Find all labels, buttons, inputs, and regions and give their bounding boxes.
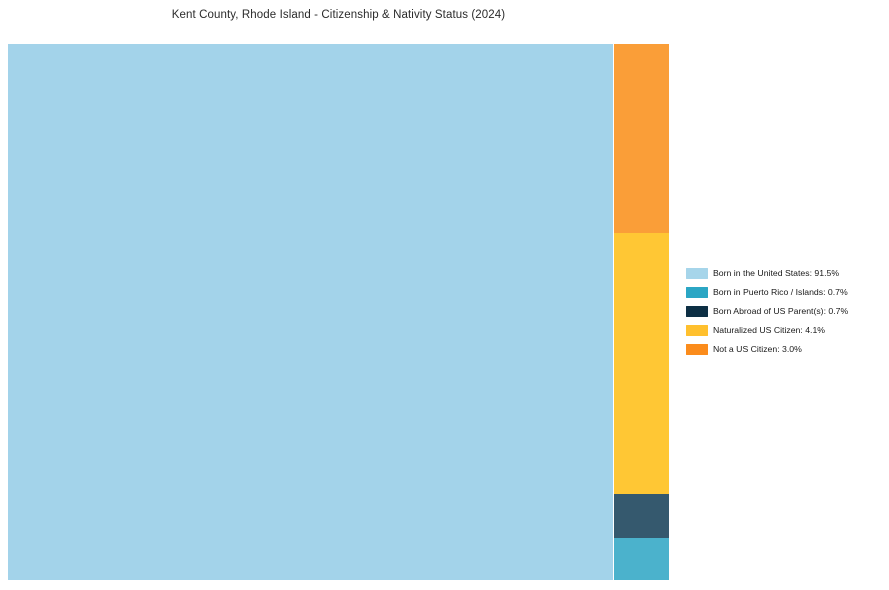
chart-title: Kent County, Rhode Island - Citizenship … — [0, 9, 677, 21]
legend-item-label: Born in the United States: 91.5% — [713, 268, 839, 279]
legend-item[interactable]: Born in the United States: 91.5% — [686, 264, 886, 283]
treemap-tile[interactable] — [614, 494, 669, 538]
legend-swatch-icon — [686, 325, 708, 336]
legend-item[interactable]: Born Abroad of US Parent(s): 0.7% — [686, 302, 886, 321]
legend-swatch-icon — [686, 268, 708, 279]
legend-item[interactable]: Born in Puerto Rico / Islands: 0.7% — [686, 283, 886, 302]
legend-swatch-icon — [686, 306, 708, 317]
treemap-plot-area — [8, 44, 669, 580]
chart-legend: Born in the United States: 91.5%Born in … — [686, 264, 886, 359]
treemap-tile[interactable] — [614, 44, 669, 233]
treemap-tile[interactable] — [614, 538, 669, 580]
legend-swatch-icon — [686, 344, 708, 355]
legend-item-label: Not a US Citizen: 3.0% — [713, 344, 802, 355]
legend-item-label: Born Abroad of US Parent(s): 0.7% — [713, 306, 848, 317]
legend-swatch-icon — [686, 287, 708, 298]
treemap-tile[interactable] — [8, 44, 613, 580]
legend-item[interactable]: Not a US Citizen: 3.0% — [686, 340, 886, 359]
legend-item-label: Born in Puerto Rico / Islands: 0.7% — [713, 287, 848, 298]
legend-item[interactable]: Naturalized US Citizen: 4.1% — [686, 321, 886, 340]
legend-item-label: Naturalized US Citizen: 4.1% — [713, 325, 825, 336]
treemap-chart: Kent County, Rhode Island - Citizenship … — [0, 0, 889, 590]
treemap-tile[interactable] — [614, 233, 669, 494]
